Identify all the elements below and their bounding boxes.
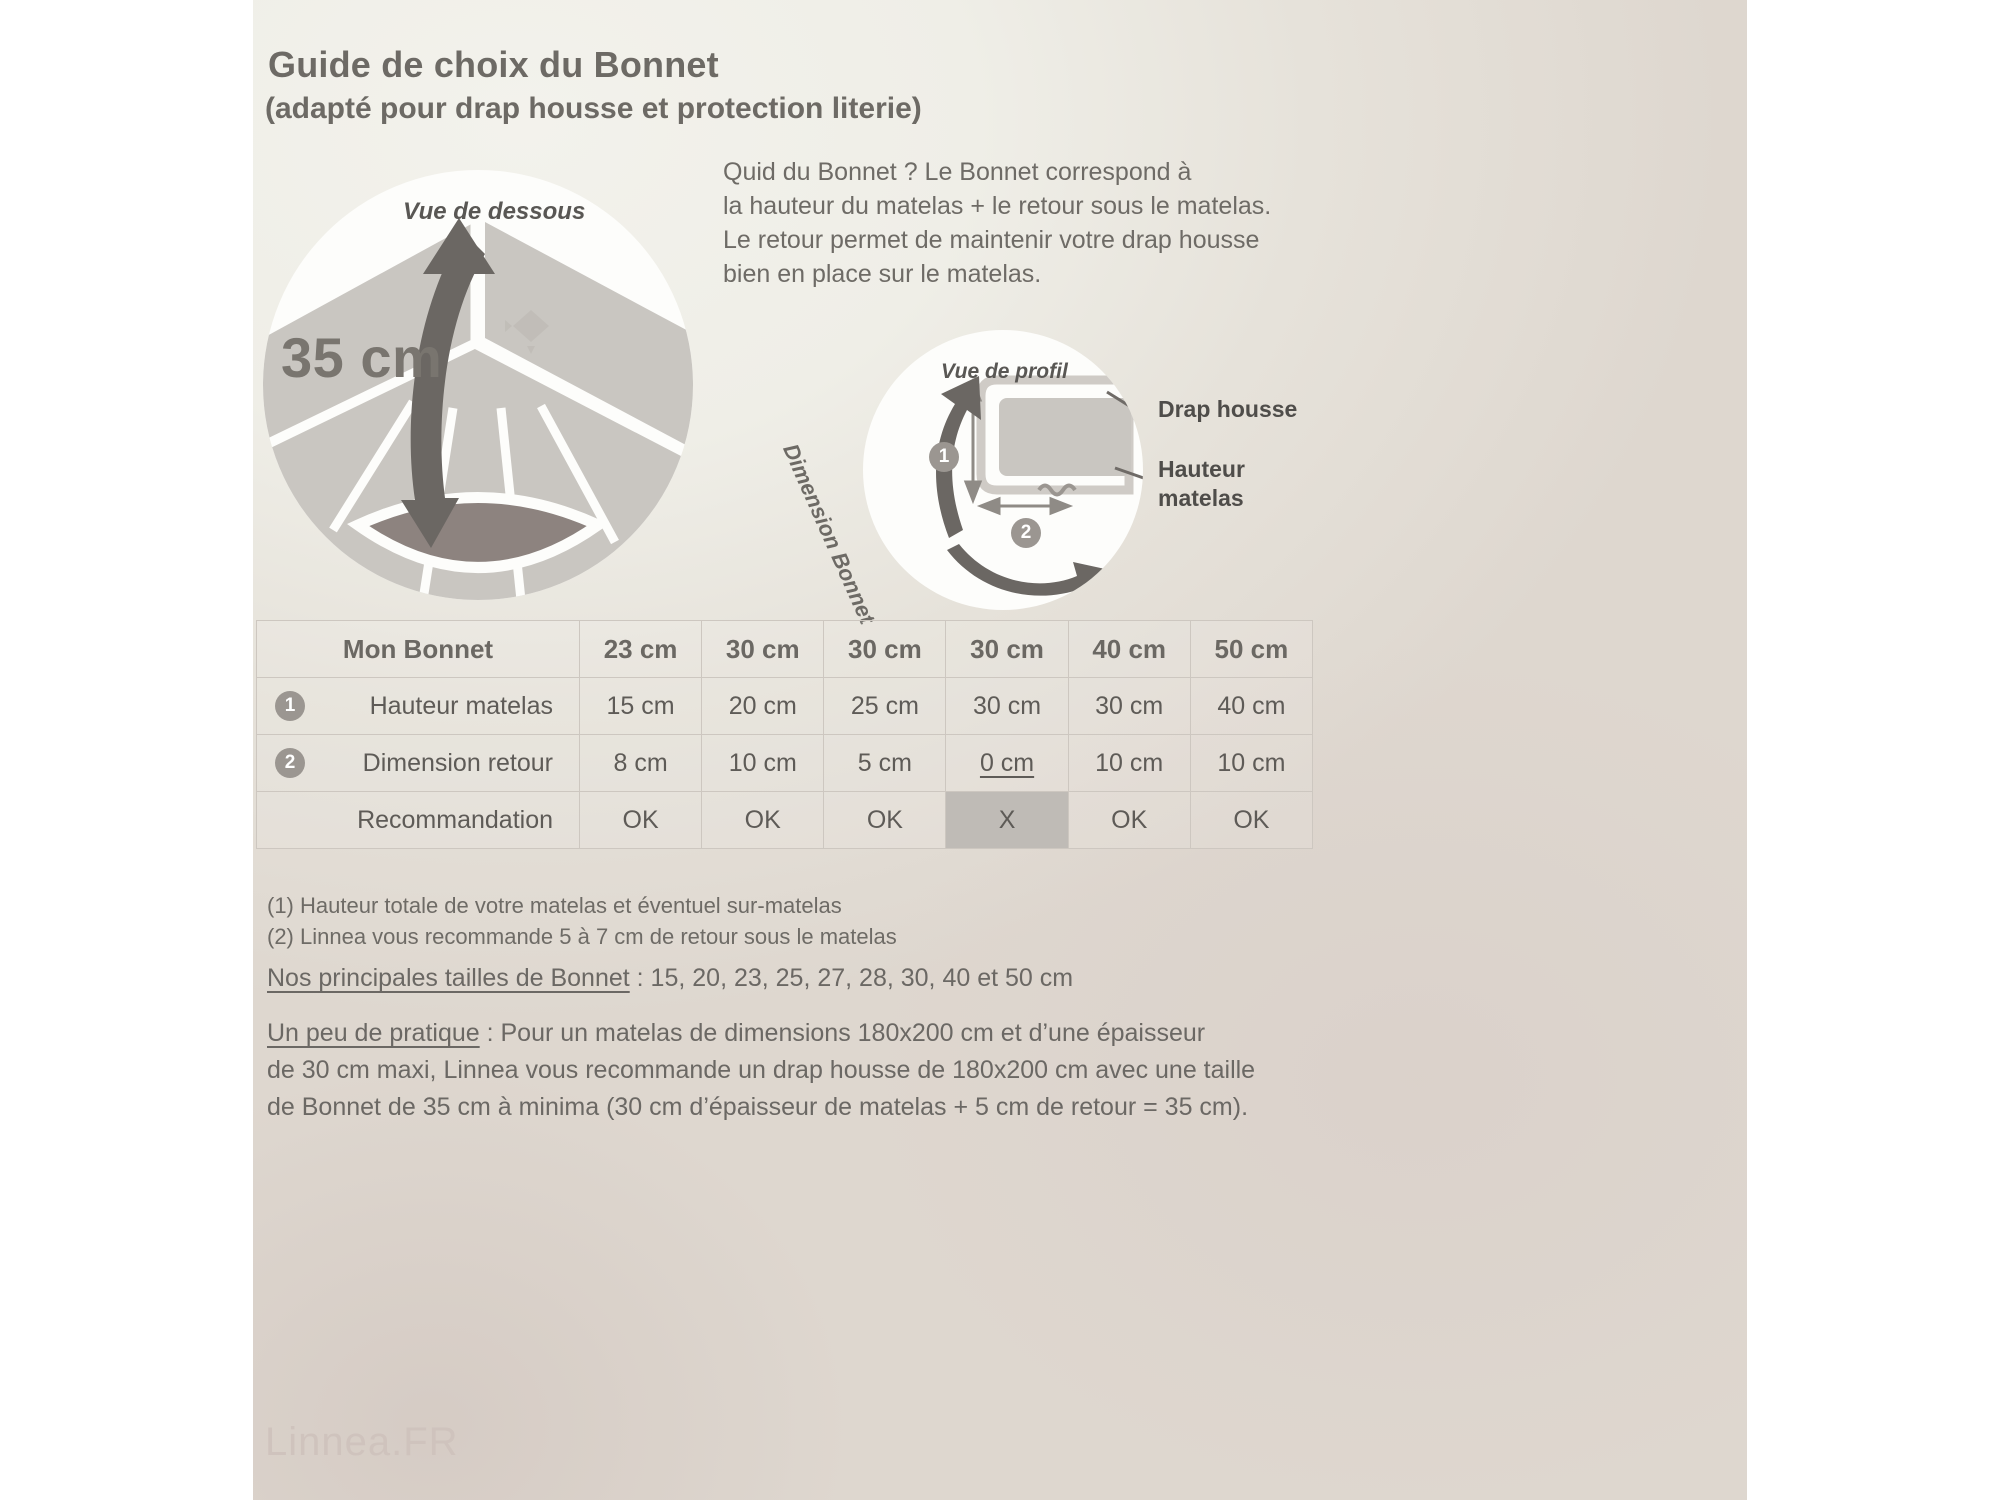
badge-2-table: 2 <box>275 748 305 778</box>
bottom-view-diagram: Vue de dessous 35 cm <box>263 170 693 600</box>
sizes-paragraph: Nos principales tailles de Bonnet : 15, … <box>267 960 1073 997</box>
cell-retour-3: 5 cm <box>824 735 946 792</box>
intro-line-4: bien en place sur le matelas. <box>723 257 1343 291</box>
cell-retour-4: 0 cm <box>946 735 1068 792</box>
intro-paragraph: Quid du Bonnet ? Le Bonnet correspond à … <box>723 155 1343 291</box>
cell-reco-5: OK <box>1068 792 1190 849</box>
callout-hauteur-matelas: Hauteur matelas <box>1158 455 1245 513</box>
cell-hauteur-3: 25 cm <box>824 678 946 735</box>
cell-reco-3: OK <box>824 792 946 849</box>
cell-hauteur-1: 15 cm <box>580 678 702 735</box>
table-header-col-1: 23 cm <box>580 621 702 678</box>
table-header-col-5: 40 cm <box>1068 621 1190 678</box>
profile-view-diagram: Vue de profil 1 2 <box>863 330 1143 610</box>
cell-retour-6: 10 cm <box>1190 735 1312 792</box>
sizes-paragraph-heading: Nos principales tailles de Bonnet <box>267 964 630 992</box>
practice-paragraph-line-3: de Bonnet de 35 cm à minima (30 cm d’épa… <box>267 1089 1255 1126</box>
table-header-mon-bonnet: Mon Bonnet <box>257 621 580 678</box>
badge-2-profile: 2 <box>1011 518 1041 548</box>
table-header-col-3: 30 cm <box>824 621 946 678</box>
sizes-paragraph-rest: : 15, 20, 23, 25, 27, 28, 30, 40 et 50 c… <box>630 964 1073 992</box>
callout-hauteur-line-1: Hauteur <box>1158 455 1245 484</box>
row-label-hauteur-matelas-text: Hauteur matelas <box>370 692 553 720</box>
cell-retour-2: 10 cm <box>702 735 824 792</box>
badge-1-table: 1 <box>275 691 305 721</box>
intro-line-2: la hauteur du matelas + le retour sous l… <box>723 189 1343 223</box>
bonnet-size-table: Mon Bonnet 23 cm 30 cm 30 cm 30 cm 40 cm… <box>256 620 1313 849</box>
row-label-recommandation: Recommandation <box>257 792 580 849</box>
linnea-logo: Linnea.FR <box>253 1420 459 1465</box>
bonnet-value-label: 35 cm <box>281 325 442 390</box>
practice-paragraph-heading: Un peu de pratique <box>267 1019 480 1047</box>
row-label-dimension-retour-text: Dimension retour <box>363 749 553 777</box>
footnotes: (1) Hauteur totale de votre matelas et é… <box>267 890 897 952</box>
footnote-1: (1) Hauteur totale de votre matelas et é… <box>267 890 897 921</box>
intro-line-1: Quid du Bonnet ? Le Bonnet correspond à <box>723 155 1343 189</box>
cell-reco-6: OK <box>1190 792 1312 849</box>
cell-hauteur-5: 30 cm <box>1068 678 1190 735</box>
page-subtitle: (adapté pour drap housse et protection l… <box>265 92 922 126</box>
infographic-panel: Guide de choix du Bonnet (adapté pour dr… <box>253 0 1747 1500</box>
cell-retour-4-value: 0 cm <box>980 749 1034 777</box>
callout-drap-housse: Drap housse <box>1158 395 1297 424</box>
screenshot-frame: Guide de choix du Bonnet (adapté pour dr… <box>0 0 2000 1500</box>
badge-1-profile: 1 <box>929 442 959 472</box>
footnote-2: (2) Linnea vous recommande 5 à 7 cm de r… <box>267 921 897 952</box>
cell-retour-5: 10 cm <box>1068 735 1190 792</box>
linnea-diamond-icon <box>253 1427 257 1461</box>
bottom-view-label: Vue de dessous <box>403 198 585 226</box>
table-row-dimension-retour: 2 Dimension retour 8 cm 10 cm 5 cm 0 cm … <box>257 735 1313 792</box>
table-header-col-2: 30 cm <box>702 621 824 678</box>
cell-hauteur-2: 20 cm <box>702 678 824 735</box>
cell-reco-4: X <box>946 792 1068 849</box>
callout-hauteur-line-2: matelas <box>1158 484 1245 513</box>
row-label-hauteur-matelas: 1 Hauteur matelas <box>257 678 580 735</box>
practice-paragraph-line-2: de 30 cm maxi, Linnea vous recommande un… <box>267 1052 1255 1089</box>
cell-retour-1: 8 cm <box>580 735 702 792</box>
profile-view-label: Vue de profil <box>941 360 1068 384</box>
table-header-col-4: 30 cm <box>946 621 1068 678</box>
cell-hauteur-4: 30 cm <box>946 678 1068 735</box>
practice-paragraph-line-1-rest: : Pour un matelas de dimensions 180x200 … <box>480 1019 1205 1047</box>
row-label-dimension-retour: 2 Dimension retour <box>257 735 580 792</box>
table-header-col-6: 50 cm <box>1190 621 1312 678</box>
cell-reco-1: OK <box>580 792 702 849</box>
intro-line-3: Le retour permet de maintenir votre drap… <box>723 223 1343 257</box>
cell-reco-2: OK <box>702 792 824 849</box>
practice-paragraph: Un peu de pratique : Pour un matelas de … <box>267 1015 1255 1126</box>
page-title: Guide de choix du Bonnet <box>268 44 719 86</box>
linnea-logo-text: Linnea.FR <box>265 1420 459 1464</box>
table-row-hauteur-matelas: 1 Hauteur matelas 15 cm 20 cm 25 cm 30 c… <box>257 678 1313 735</box>
table-row-recommandation: Recommandation OK OK OK X OK OK <box>257 792 1313 849</box>
table-header-row: Mon Bonnet 23 cm 30 cm 30 cm 30 cm 40 cm… <box>257 621 1313 678</box>
cell-hauteur-6: 40 cm <box>1190 678 1312 735</box>
